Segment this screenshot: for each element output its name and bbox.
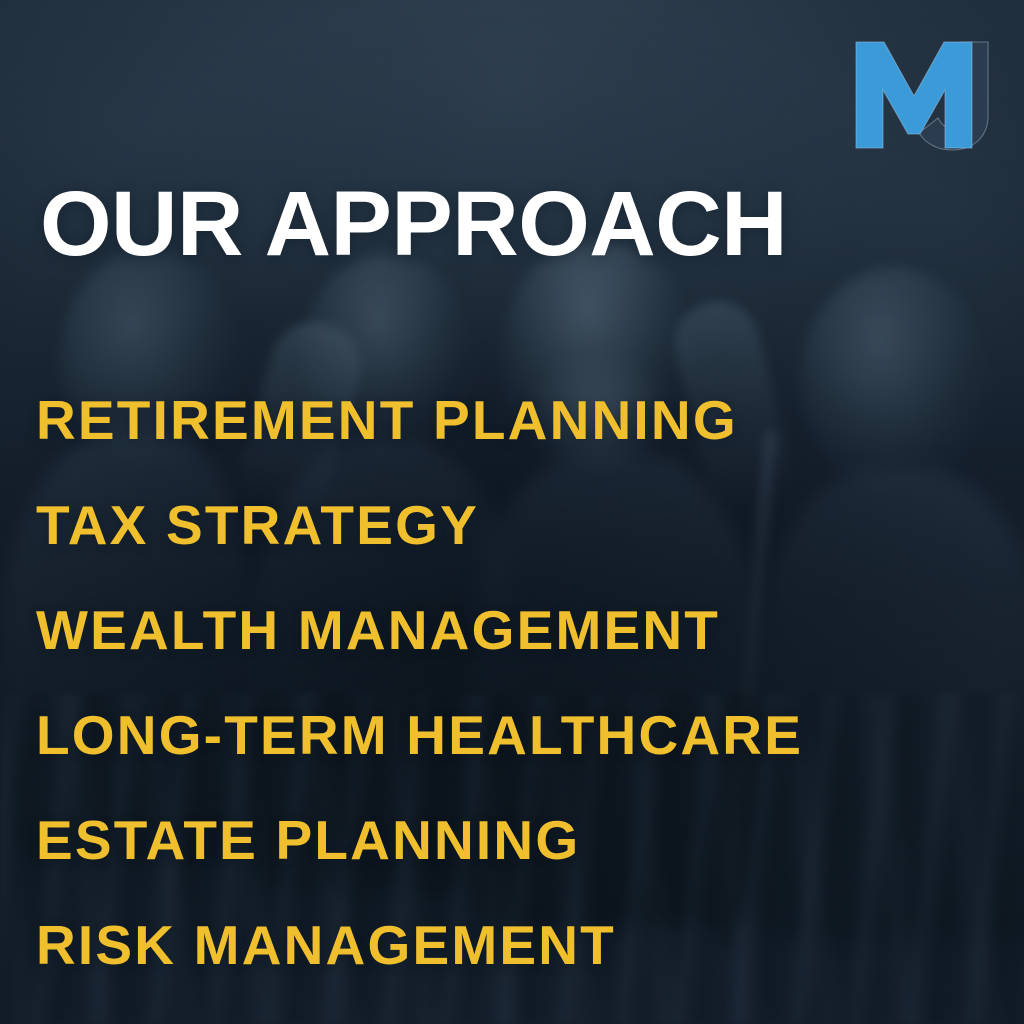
logo-letter-m-shape — [856, 42, 972, 148]
list-item: RISK MANAGEMENT — [36, 893, 803, 998]
list-item: LONG-TERM HEALTHCARE — [36, 683, 803, 788]
page-title: OUR APPROACH — [40, 178, 787, 270]
mj-logo[interactable]: M J — [842, 34, 1002, 154]
list-item: RETIREMENT PLANNING — [36, 368, 803, 473]
services-list: RETIREMENT PLANNING TAX STRATEGY WEALTH … — [36, 368, 803, 998]
list-item: TAX STRATEGY — [36, 473, 803, 578]
poster-canvas: M J OUR APPROACH RETIREMENT PLANNING TAX… — [0, 0, 1024, 1024]
list-item: ESTATE PLANNING — [36, 788, 803, 893]
list-item: WEALTH MANAGEMENT — [36, 578, 803, 683]
